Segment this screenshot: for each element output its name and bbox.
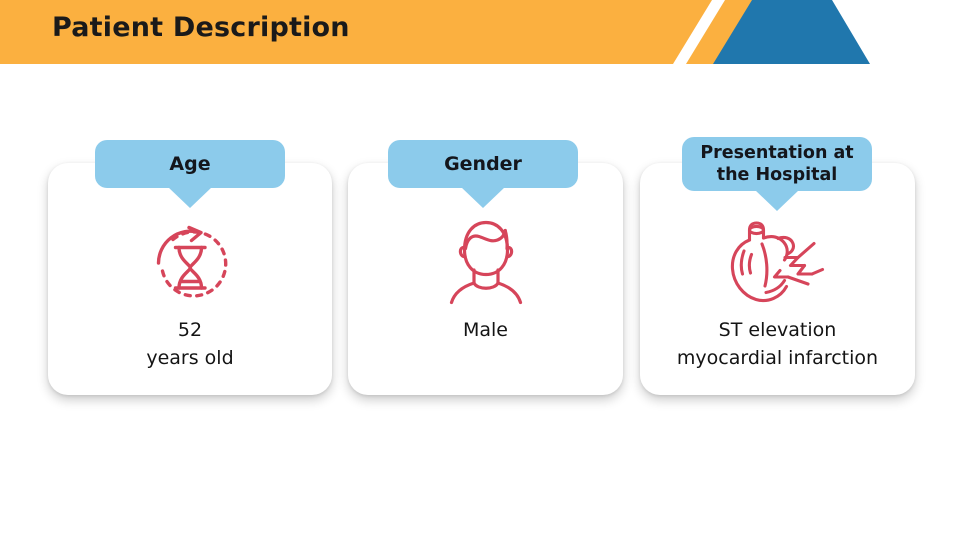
card-value-age-line-1: 52 xyxy=(48,316,332,344)
male-person-icon xyxy=(348,213,623,311)
page-title: Patient Description xyxy=(52,12,350,43)
card-value-gender-line-1: Male xyxy=(348,316,623,344)
bubble-label-age: Age xyxy=(95,140,285,188)
card-value-presentation-line-1: ST elevation xyxy=(632,316,923,344)
card-value-gender: Male xyxy=(348,316,623,344)
card-value-age-line-2: years old xyxy=(48,344,332,372)
bubble-label-presentation: Presentation at the Hospital xyxy=(682,137,872,191)
bubble-presentation-line-1: Presentation at xyxy=(700,143,853,163)
bubble-presentation-text: Presentation at the Hospital xyxy=(700,142,853,186)
card-value-presentation-line-2: myocardial infarction xyxy=(632,344,923,372)
bubble-presentation-line-2: the Hospital xyxy=(717,165,838,185)
bubble-label-gender: Gender xyxy=(388,140,578,188)
card-value-age: 52 years old xyxy=(48,316,332,372)
bubble-age-text: Age xyxy=(169,152,210,176)
hourglass-clock-icon xyxy=(48,215,332,311)
bubble-gender-text: Gender xyxy=(444,152,522,176)
header-banner: Patient Description xyxy=(0,0,960,64)
heart-attack-icon xyxy=(640,213,915,311)
card-value-presentation: ST elevation myocardial infarction xyxy=(632,316,923,372)
